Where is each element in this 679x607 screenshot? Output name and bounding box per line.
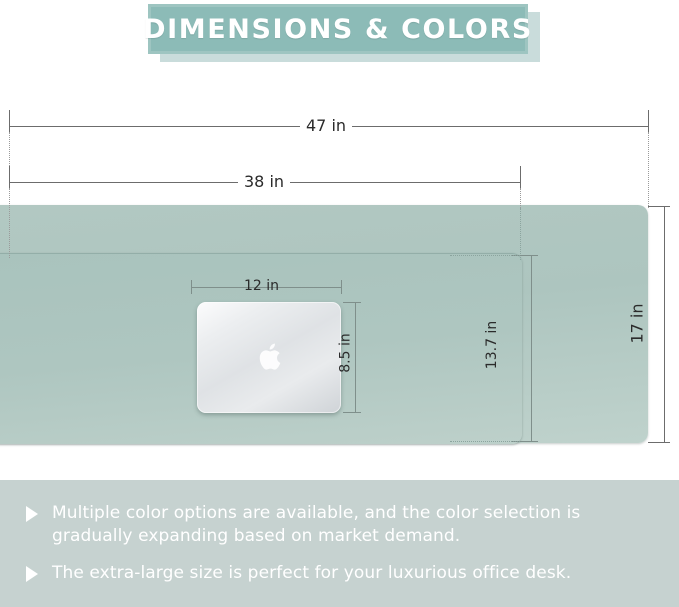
feature-callouts: Multiple color options are available, an…	[0, 480, 679, 607]
ext-line-38in-left	[9, 188, 10, 258]
dimension-diagram: 47 in 38 in 17 in 13.7 in 12 in 8.5 in	[0, 0, 679, 470]
bullet-text-2: The extra-large size is perfect for your…	[52, 562, 571, 585]
tick-17in-bottom	[648, 442, 670, 443]
dim-label-85in: 8.5 in	[334, 333, 358, 372]
apple-logo-icon	[256, 343, 282, 373]
ext-line-38in-right-upper	[520, 188, 521, 210]
ext-line-47in-right	[648, 132, 649, 208]
dim-line-17in	[664, 206, 665, 442]
dim-label-17in: 17 in	[624, 303, 651, 343]
dim-label-38in: 38 in	[238, 172, 290, 191]
tick-38in-left	[9, 166, 10, 188]
tick-17in-top	[648, 206, 670, 207]
dim-label-12in: 12 in	[238, 278, 285, 294]
dim-label-47in: 47 in	[300, 116, 352, 135]
tick-85in-bottom	[343, 412, 361, 413]
triangle-right-icon	[26, 566, 38, 582]
ext-line-137in-top	[450, 255, 520, 256]
dim-line-137in	[531, 255, 532, 441]
tick-47in-left	[9, 110, 10, 132]
list-item: The extra-large size is perfect for your…	[26, 562, 653, 585]
bullet-text-1: Multiple color options are available, an…	[52, 502, 653, 548]
ext-line-38in-right-lower	[520, 208, 521, 260]
tick-47in-right	[648, 110, 649, 132]
tick-38in-right	[520, 166, 521, 188]
tick-85in-top	[343, 302, 361, 303]
list-item: Multiple color options are available, an…	[26, 502, 653, 548]
macbook-laptop	[197, 302, 341, 413]
dim-label-137in: 13.7 in	[480, 321, 504, 369]
triangle-right-icon	[26, 506, 38, 522]
ext-line-137in-bottom	[450, 441, 520, 442]
tick-12in-right	[341, 280, 342, 294]
